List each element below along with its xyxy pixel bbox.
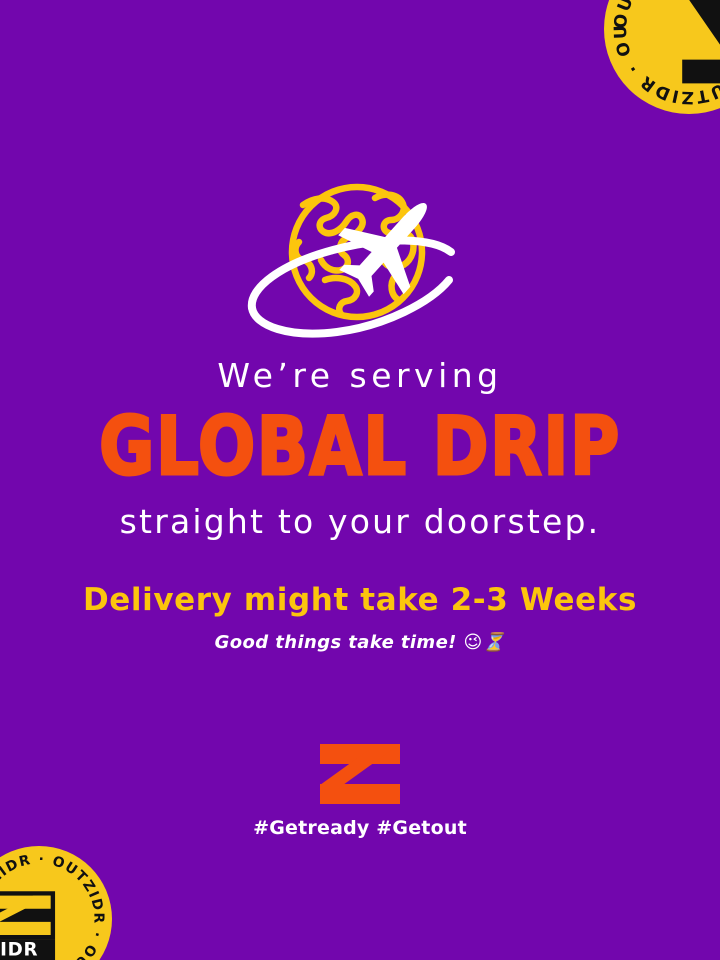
headline-text: GLOBAL DRIP (0, 403, 720, 491)
outzidr-seal-bottom-left: OUTZIDR · OUTZIDR · OUTZIDR · OUTZIDR · … (0, 846, 112, 960)
hero-icon-container (0, 178, 720, 348)
seal-wordmark: OUTZIDR (0, 940, 38, 960)
outzidr-seal-top-right: OUTZIDR · OUTZIDR · OUTZIDR · OUTZIDR · (604, 0, 720, 114)
hashtags-text: #Getready #Getout (0, 817, 720, 839)
footer-block: #Getready #Getout (0, 744, 720, 839)
seal-top-right-graphic: OUTZIDR · OUTZIDR · OUTZIDR · OUTZIDR · (604, 0, 720, 114)
copy-block: We’re serving GLOBAL DRIP straight to yo… (0, 356, 720, 655)
orbit-trail-lower (252, 280, 449, 334)
subhead-text: straight to your doorstep. (0, 502, 720, 542)
seal-z-mark (682, 0, 720, 83)
reassurance-text: Good things take time! 😉⏳ (0, 631, 720, 655)
globe-with-airplane-icon (245, 180, 475, 346)
delivery-notice-text: Delivery might take 2-3 Weeks (0, 581, 720, 619)
seal-bottom-left-graphic: OUTZIDR · OUTZIDR · OUTZIDR · OUTZIDR · … (0, 846, 112, 960)
poster-canvas: OUTZIDR · OUTZIDR · OUTZIDR · OUTZIDR · … (0, 0, 720, 960)
outzidr-z-logomark (320, 744, 400, 804)
eyebrow-text: We’re serving (0, 356, 720, 396)
